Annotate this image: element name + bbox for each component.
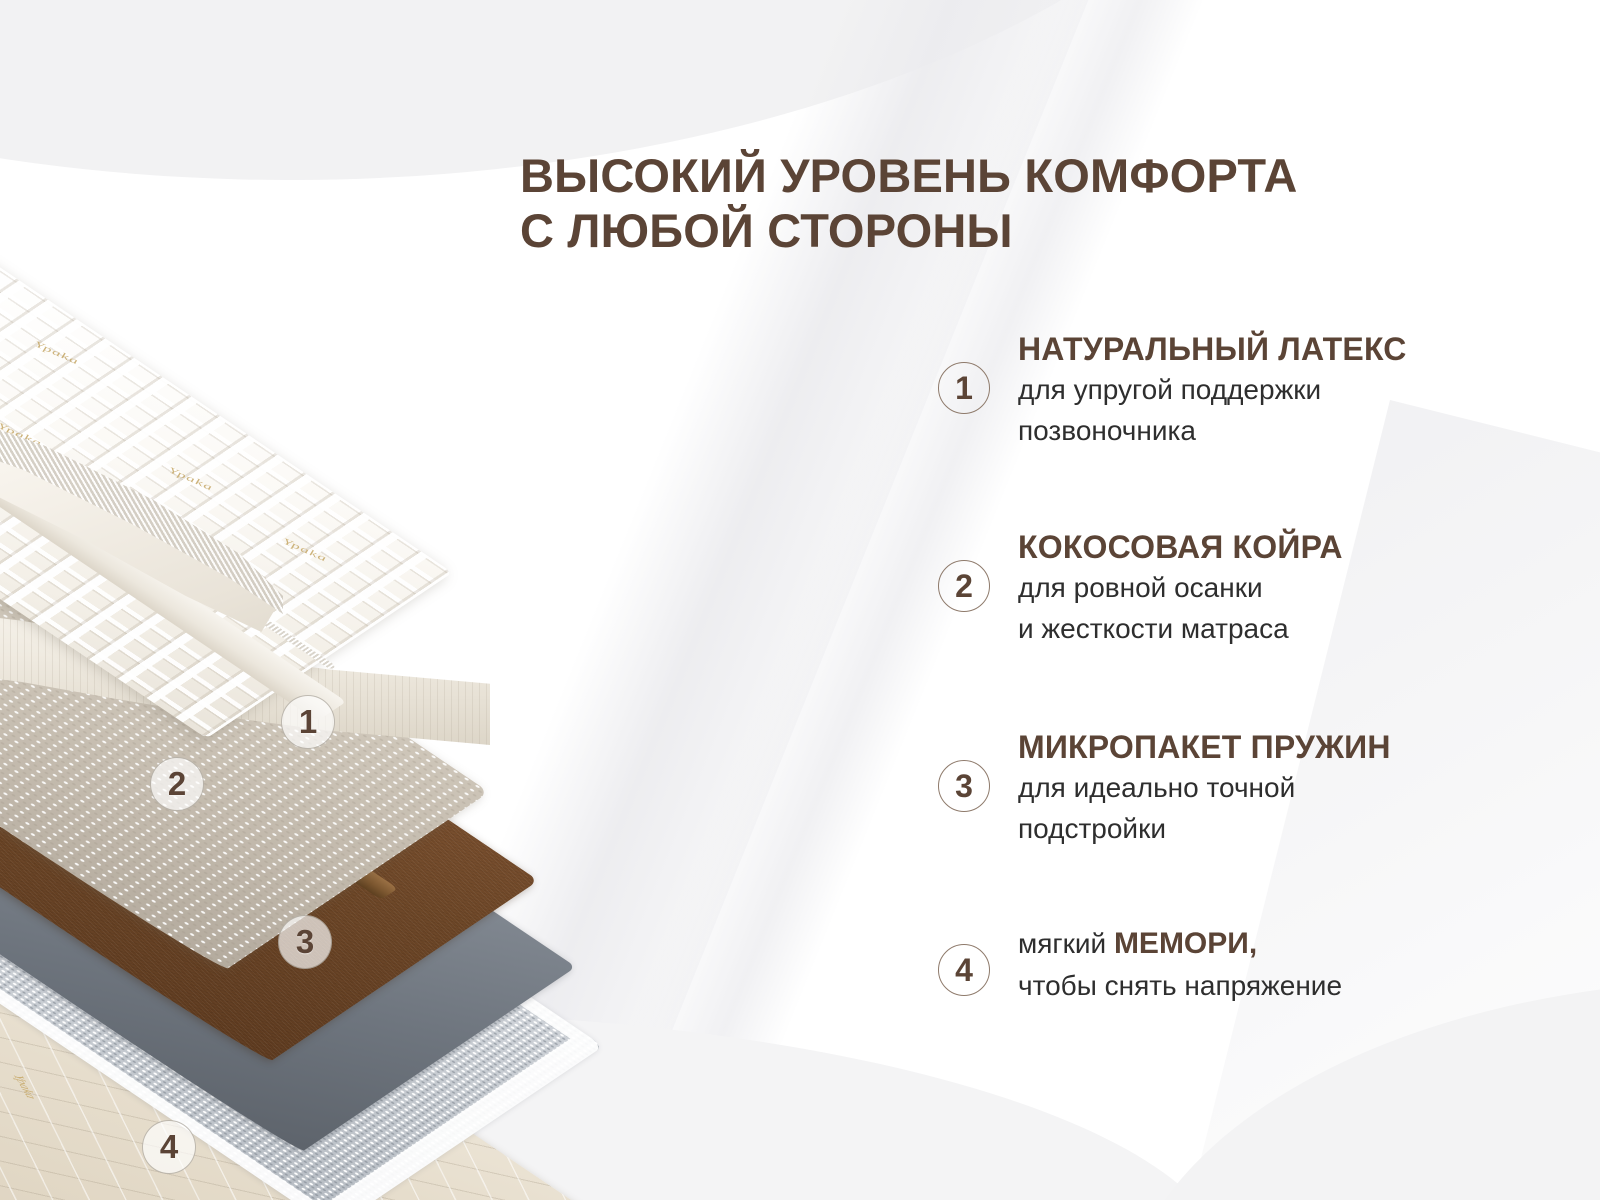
feature-number-3: 3 bbox=[938, 760, 990, 812]
gold-script-mark: Ypaka bbox=[168, 465, 213, 494]
illustration-badge-3: 3 bbox=[278, 915, 332, 969]
feature-number-2: 2 bbox=[938, 560, 990, 612]
gold-script-mark: Ypaka bbox=[34, 339, 79, 368]
feature-item-springs: 3 МИКРОПАКЕТ ПРУЖИН для идеально точной … bbox=[938, 728, 1558, 848]
gold-script-mark: Ypaka bbox=[282, 536, 327, 565]
feature-number-4: 4 bbox=[938, 944, 990, 996]
feature-heading-coir: КОКОСОВАЯ КОЙРА bbox=[1018, 530, 1343, 566]
illustration-badge-1: 1 bbox=[281, 695, 335, 749]
feature-body-line-2: подстройки bbox=[1018, 811, 1391, 848]
feature-heading-memory: мягкий МЕМОРИ, bbox=[1018, 924, 1342, 964]
feature-body-line-1: для идеально точной bbox=[1018, 770, 1391, 807]
feature-number-1: 1 bbox=[938, 362, 990, 414]
feature-body-line-2: и жесткости матраса bbox=[1018, 611, 1343, 648]
feature-memory-emphasis: МЕМОРИ, bbox=[1114, 927, 1257, 960]
feature-memory-prefix: мягкий bbox=[1018, 928, 1114, 959]
feature-text-block: МИКРОПАКЕТ ПРУЖИН для идеально точной по… bbox=[1018, 728, 1391, 848]
quilted-cover: Ypaka Ypaka Ypaka Ypaka Ypaka Ypaka bbox=[0, 190, 543, 790]
feature-body-line-2: позвоночника bbox=[1018, 413, 1407, 450]
feature-item-latex: 1 НАТУРАЛЬНЫЙ ЛАТЕКС для упругой поддерж… bbox=[938, 330, 1558, 450]
illustration-badge-4: 4 bbox=[142, 1120, 196, 1174]
gold-script-mark: Ypaka bbox=[9, 1073, 39, 1100]
mattress-cutaway-illustration: Ypaka Ypaka Ypaka Ypaka Ypaka Ypaka bbox=[0, 195, 930, 1135]
feature-heading-latex: НАТУРАЛЬНЫЙ ЛАТЕКС bbox=[1018, 332, 1407, 368]
feature-body-line-1: для ровной осанки bbox=[1018, 570, 1343, 607]
illustration-badge-2: 2 bbox=[150, 757, 204, 811]
feature-body-line-1: для упругой поддержки bbox=[1018, 372, 1407, 409]
feature-item-coir: 2 КОКОСОВАЯ КОЙРА для ровной осанки и же… bbox=[938, 528, 1558, 648]
feature-text-block: НАТУРАЛЬНЫЙ ЛАТЕКС для упругой поддержки… bbox=[1018, 330, 1407, 450]
feature-body-line-2: чтобы снять напряжение bbox=[1018, 968, 1342, 1005]
infographic-canvas: ВЫСОКИЙ УРОВЕНЬ КОМФОРТА С ЛЮБОЙ СТОРОНЫ… bbox=[0, 0, 1600, 1200]
feature-heading-springs: МИКРОПАКЕТ ПРУЖИН bbox=[1018, 730, 1391, 766]
feature-item-memory: 4 мягкий МЕМОРИ, чтобы снять напряжение bbox=[938, 922, 1558, 1005]
arc-bottom-right-shape bbox=[1120, 980, 1600, 1200]
feature-text-block: мягкий МЕМОРИ, чтобы снять напряжение bbox=[1018, 922, 1342, 1005]
feature-text-block: КОКОСОВАЯ КОЙРА для ровной осанки и жест… bbox=[1018, 528, 1343, 648]
